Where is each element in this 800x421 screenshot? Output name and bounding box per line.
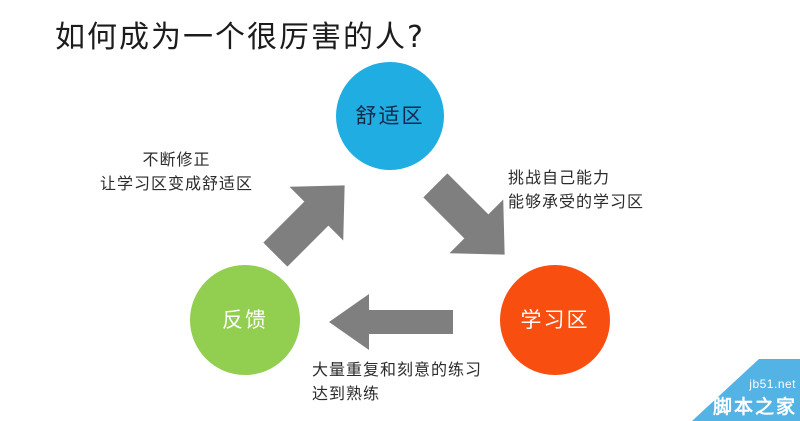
node-learning-zone-label: 学习区 [521, 310, 590, 331]
node-learning-zone[interactable]: 学习区 [500, 265, 610, 375]
page-title: 如何成为一个很厉害的人? [55, 12, 425, 56]
edge-label-comfort-to-learning: 挑战自己能力 能够承受的学习区 [508, 166, 644, 214]
edge-label-learning-to-feedback-line-1: 大量重复和刻意的练习 [312, 358, 482, 382]
arrow-feedback-to-comfort [255, 165, 365, 275]
edge-label-learning-to-feedback: 大量重复和刻意的练习 达到熟练 [312, 358, 482, 406]
edge-label-comfort-to-learning-line-1: 挑战自己能力 [508, 166, 644, 190]
node-comfort-zone-label: 舒适区 [356, 106, 425, 127]
arrow-learning-to-feedback [325, 292, 457, 352]
edge-label-learning-to-feedback-line-2: 达到熟练 [312, 382, 482, 406]
node-comfort-zone[interactable]: 舒适区 [336, 62, 444, 170]
edge-label-comfort-to-learning-line-2: 能够承受的学习区 [508, 190, 644, 214]
diagram-canvas: 如何成为一个很厉害的人? 舒适区 学习区 反馈 不断修正 让学习区变成舒适区 挑… [0, 0, 800, 421]
node-feedback-label: 反馈 [222, 310, 268, 331]
edge-label-feedback-to-comfort: 不断修正 让学习区变成舒适区 [100, 148, 253, 196]
edge-label-feedback-to-comfort-line-2: 让学习区变成舒适区 [100, 172, 253, 196]
node-feedback[interactable]: 反馈 [190, 265, 300, 375]
edge-label-feedback-to-comfort-line-1: 不断修正 [100, 148, 253, 172]
watermark-latin-text: jb51.net [749, 377, 796, 391]
watermark: jb51.net 脚本之家 [692, 359, 800, 421]
watermark-cjk-text: 脚本之家 [713, 392, 797, 419]
